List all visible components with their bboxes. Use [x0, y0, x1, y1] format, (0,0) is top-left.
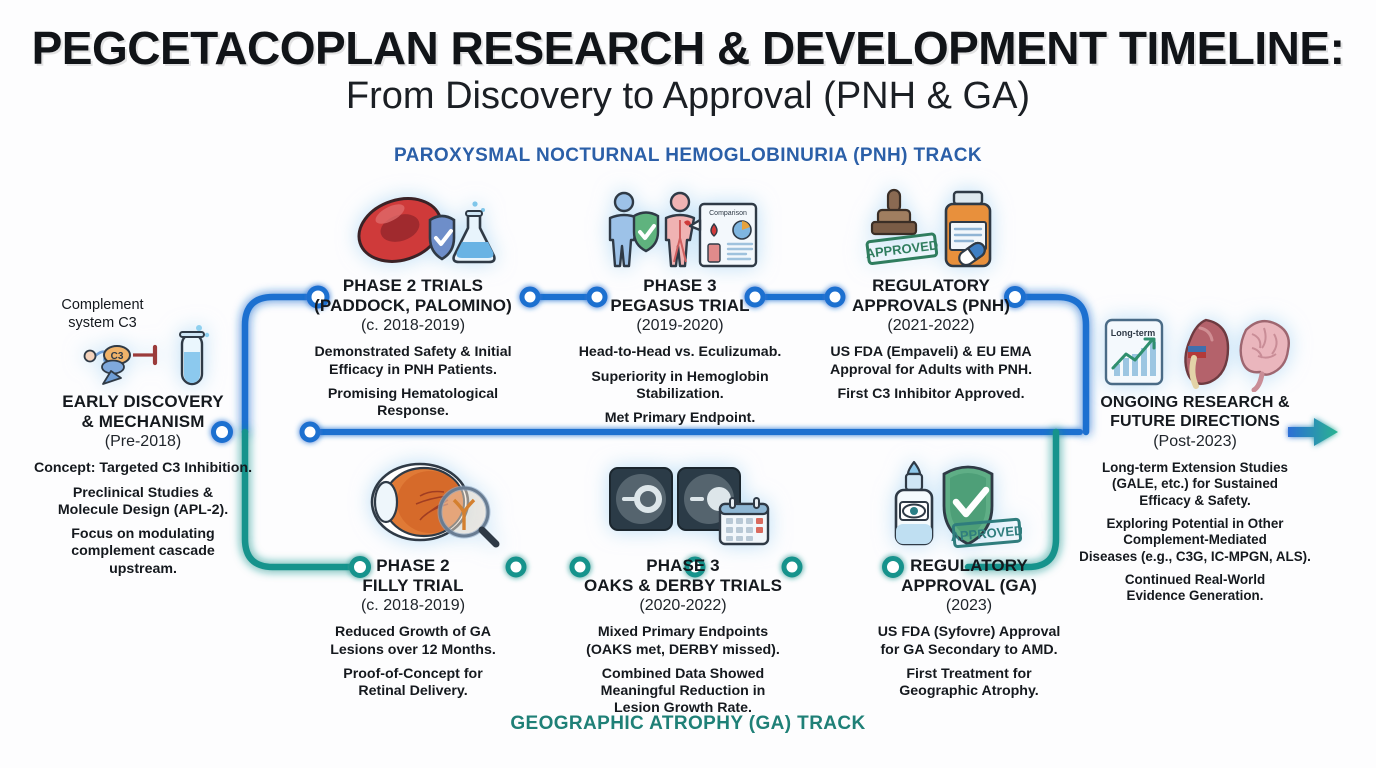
node-heading: PHASE 3 PEGASUS TRIAL — [555, 276, 805, 315]
node-bullets: Concept: Targeted C3 Inhibition. Preclin… — [18, 460, 268, 578]
node-phase3-oaks-derby[interactable]: PHASE 3 OAKS & DERBY TRIALS (2020-2022) … — [553, 556, 813, 725]
node-bullet: Head-to-Head vs. Eculizumab. — [555, 344, 805, 361]
node-bullet: Continued Real-World Evidence Generation… — [1060, 572, 1330, 605]
node-period: (Pre-2018) — [18, 432, 268, 453]
approval-stamp-icon: APPROVED — [950, 519, 1022, 547]
comparison-report-icon: Comparison — [690, 204, 756, 266]
node-bullet: Combined Data Showed Meaningful Reductio… — [553, 666, 813, 718]
infographic-canvas: PEGCETACOPLAN RESEARCH & DEVELOPMENT TIM… — [0, 0, 1376, 768]
comparison-report-label: Comparison — [709, 210, 747, 217]
node-phase2-pnh[interactable]: PHASE 2 TRIALS (PADDOCK, PALOMINO) (c. 2… — [288, 276, 538, 427]
node-bullet: US FDA (Syfovre) Approval for GA Seconda… — [845, 624, 1093, 659]
retinal-scan-icon — [610, 468, 672, 530]
phase3-oaks-derby-icons — [604, 456, 770, 548]
pill-bottle-icon — [946, 192, 990, 268]
node-bullet: Mixed Primary Endpoints (OAKS met, DERBY… — [553, 624, 813, 659]
node-heading: PHASE 2 FILLY TRIAL — [288, 556, 538, 595]
node-bullet: Focus on modulating complement cascade u… — [18, 526, 268, 578]
node-bullet: US FDA (Empaveli) & EU EMA Approval for … — [806, 344, 1056, 379]
node-bullets: Mixed Primary Endpoints (OAKS met, DERBY… — [553, 624, 813, 718]
node-heading: REGULATORY APPROVAL (GA) — [845, 556, 1093, 595]
node-bullet: First Treatment for Geographic Atrophy. — [845, 666, 1093, 701]
node-ongoing-research[interactable]: ONGOING RESEARCH & FUTURE DIRECTIONS (Po… — [1060, 394, 1330, 612]
node-bullet: Concept: Targeted C3 Inhibition. — [18, 460, 268, 477]
node-bullets: Demonstrated Safety & Initial Efficacy i… — [288, 344, 538, 420]
phase2-filly-icons — [358, 456, 502, 548]
node-phase3-pegasus[interactable]: PHASE 3 PEGASUS TRIAL (2019-2020) Head-t… — [555, 276, 805, 434]
node-early-discovery[interactable]: EARLY DISCOVERY & MECHANISM (Pre-2018) C… — [18, 392, 268, 585]
complement-c3-protein-icon: C3 — [73, 322, 165, 388]
flask-icon — [454, 201, 495, 262]
node-period: (c. 2018-2019) — [288, 596, 538, 617]
node-period: (2021-2022) — [806, 316, 1056, 337]
node-bullet: Reduced Growth of GA Lesions over 12 Mon… — [288, 624, 538, 659]
eye-drop-bottle-icon — [896, 462, 932, 544]
test-tube-icon — [169, 322, 213, 388]
node-period: (c. 2018-2019) — [288, 316, 538, 337]
calendar-icon — [720, 498, 768, 544]
node-bullet: Met Primary Endpoint. — [555, 410, 805, 427]
node-phase2-filly[interactable]: PHASE 2 FILLY TRIAL (c. 2018-2019) Reduc… — [288, 556, 538, 707]
regulatory-ga-icons: APPROVED — [882, 458, 1022, 550]
node-heading: REGULATORY APPROVALS (PNH) — [806, 276, 1056, 315]
long-term-chart-icon: Long-term — [1106, 320, 1162, 384]
node-bullet: Preclinical Studies & Molecule Design (A… — [18, 485, 268, 520]
node-bullets: Head-to-Head vs. Eculizumab. Superiority… — [555, 344, 805, 427]
node-bullets: Long-term Extension Studies (GALE, etc.)… — [1060, 460, 1330, 605]
phase3-pegasus-icons: Comparison — [602, 186, 758, 274]
node-bullets: US FDA (Empaveli) & EU EMA Approval for … — [806, 344, 1056, 403]
node-bullet: Demonstrated Safety & Initial Efficacy i… — [288, 344, 538, 379]
node-regulatory-ga[interactable]: REGULATORY APPROVAL (GA) (2023) US FDA (… — [845, 556, 1093, 707]
magnifier-icon — [440, 488, 496, 544]
node-period: (2023) — [845, 596, 1093, 617]
phase2-pnh-icons — [352, 186, 498, 274]
ongoing-research-icons: Long-term — [1102, 312, 1292, 392]
node-period: (2020-2022) — [553, 596, 813, 617]
long-term-chart-label: Long-term — [1111, 328, 1156, 338]
node-bullets: US FDA (Syfovre) Approval for GA Seconda… — [845, 624, 1093, 700]
shield-check-icon — [430, 216, 454, 259]
node-heading: PHASE 2 TRIALS (PADDOCK, PALOMINO) — [288, 276, 538, 315]
node-period: (2019-2020) — [555, 316, 805, 337]
brain-icon — [1241, 321, 1289, 390]
node-period: (Post-2023) — [1060, 432, 1330, 453]
node-bullet: Superiority in Hemoglobin Stabilization. — [555, 369, 805, 404]
node-bullets: Reduced Growth of GA Lesions over 12 Mon… — [288, 624, 538, 700]
approval-stamp-icon: APPROVED — [864, 190, 939, 264]
node-heading: PHASE 3 OAKS & DERBY TRIALS — [553, 556, 813, 595]
kidney-icon — [1185, 320, 1228, 386]
regulatory-pnh-icons: APPROVED — [858, 182, 1004, 274]
early-discovery-icons: C3 — [70, 320, 215, 388]
patient-vascular-icon — [666, 193, 694, 266]
node-bullet: First C3 Inhibitor Approved. — [806, 386, 1056, 403]
node-regulatory-pnh[interactable]: REGULATORY APPROVALS (PNH) (2021-2022) U… — [806, 276, 1056, 410]
patient-shield-icon — [610, 193, 658, 266]
node-heading: EARLY DISCOVERY & MECHANISM — [18, 392, 268, 431]
node-bullet: Exploring Potential in Other Complement-… — [1060, 516, 1330, 565]
node-bullet: Long-term Extension Studies (GALE, etc.)… — [1060, 460, 1330, 509]
node-bullet: Proof-of-Concept for Retinal Delivery. — [288, 666, 538, 701]
node-heading: ONGOING RESEARCH & FUTURE DIRECTIONS — [1060, 394, 1330, 431]
node-bullet: Promising Hematological Response. — [288, 386, 538, 421]
